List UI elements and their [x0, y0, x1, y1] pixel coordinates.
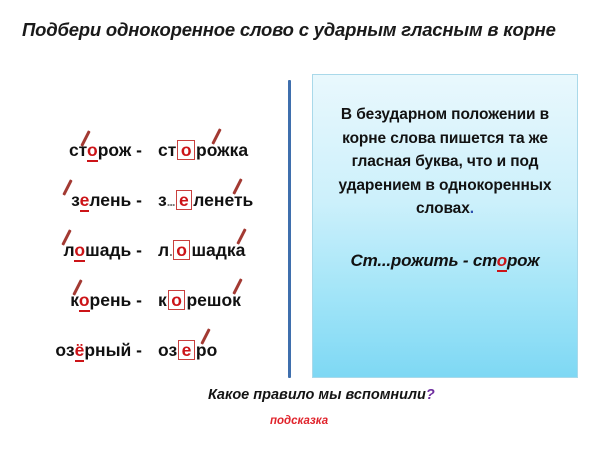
stressed-vowel: о — [74, 240, 85, 262]
vertical-divider — [288, 80, 291, 378]
example-stressed-vowel: о — [497, 251, 507, 272]
rule-period: . — [470, 200, 474, 217]
word-suffix: рож — [98, 140, 132, 160]
page-title: Подбери однокоренное слово с ударным гла… — [22, 16, 582, 44]
word-prefix: з — [158, 190, 167, 210]
word-prefix: з — [71, 190, 79, 210]
word-dash: - — [131, 140, 142, 160]
related-word: корешок — [158, 290, 241, 311]
word-dash: - — [131, 190, 142, 210]
word-dash: - — [131, 290, 142, 310]
base-word: корень - — [70, 290, 142, 311]
base-word: сторож - — [69, 140, 142, 161]
rule-callout-box: В безударном положении в корне слова пиш… — [312, 74, 578, 378]
word-suffix: лень — [89, 190, 131, 210]
stressed-vowel: е — [80, 190, 90, 212]
rule-sentence: В безударном положении в корне слова пиш… — [339, 106, 552, 217]
word-suffix: рень — [90, 290, 132, 310]
boxed-vowel: о — [168, 290, 186, 310]
boxed-vowel: е — [176, 190, 193, 210]
boxed-vowel: е — [178, 340, 195, 360]
boxed-vowel: о — [177, 140, 195, 160]
base-word: озёрный - — [55, 340, 142, 361]
word-pair-row: сторож - сторожка — [18, 130, 280, 180]
word-pair-row: озёрный - озеро — [18, 330, 280, 380]
word-prefix: оз — [158, 340, 177, 360]
word-suffix: ленеть — [193, 190, 253, 210]
closing-question: Какое правило мы вспомнили? — [208, 387, 588, 403]
word-suffix: шадь — [85, 240, 131, 260]
word-gap: ... — [167, 194, 175, 209]
word-pair-row: лошадь - л.ошадка — [18, 230, 280, 280]
boxed-vowel: о — [173, 240, 191, 260]
word-prefix: к — [70, 290, 79, 310]
word-dash: - — [131, 340, 142, 360]
question-mark: ? — [426, 387, 435, 403]
word-prefix: оз — [55, 340, 74, 360]
rule-text: В безударном положении в корне слова пиш… — [327, 103, 563, 221]
stressed-vowel: о — [79, 290, 90, 312]
base-word: лошадь - — [64, 240, 142, 261]
word-prefix: л — [158, 240, 169, 260]
word-prefix: л — [64, 240, 75, 260]
word-suffix: шадка — [191, 240, 245, 260]
word-pair-row: зелень - з...еленеть — [18, 180, 280, 230]
rule-example: Ст...рожить - сторож — [327, 251, 563, 271]
example-prefix: Ст...рожить - ст — [351, 251, 497, 270]
hint-link[interactable]: подсказка — [270, 415, 530, 427]
related-word: з...еленеть — [158, 190, 253, 211]
word-prefix: к — [158, 290, 167, 310]
word-prefix: ст — [158, 140, 176, 160]
word-suffix: решок — [186, 290, 240, 310]
word-prefix: ст — [69, 140, 87, 160]
stressed-vowel: ё — [75, 340, 85, 362]
stressed-vowel: о — [87, 140, 98, 162]
example-suffix: рож — [507, 251, 539, 270]
base-word: зелень - — [71, 190, 142, 211]
word-gap: . — [169, 244, 172, 259]
slide-root: Подбери однокоренное слово с ударным гла… — [0, 0, 600, 450]
word-dash: - — [131, 240, 142, 260]
related-word: л.ошадка — [158, 240, 245, 261]
word-pair-row: корень - корешок — [18, 280, 280, 330]
word-suffix: рный — [84, 340, 131, 360]
word-pairs-list: сторож - сторожка зелень - з...еленеть л… — [18, 130, 280, 380]
related-word: сторожка — [158, 140, 248, 161]
word-suffix: рожка — [196, 140, 248, 160]
question-text: Какое правило мы вспомнили — [208, 387, 426, 403]
related-word: озеро — [158, 340, 217, 361]
word-suffix: ро — [196, 340, 217, 360]
